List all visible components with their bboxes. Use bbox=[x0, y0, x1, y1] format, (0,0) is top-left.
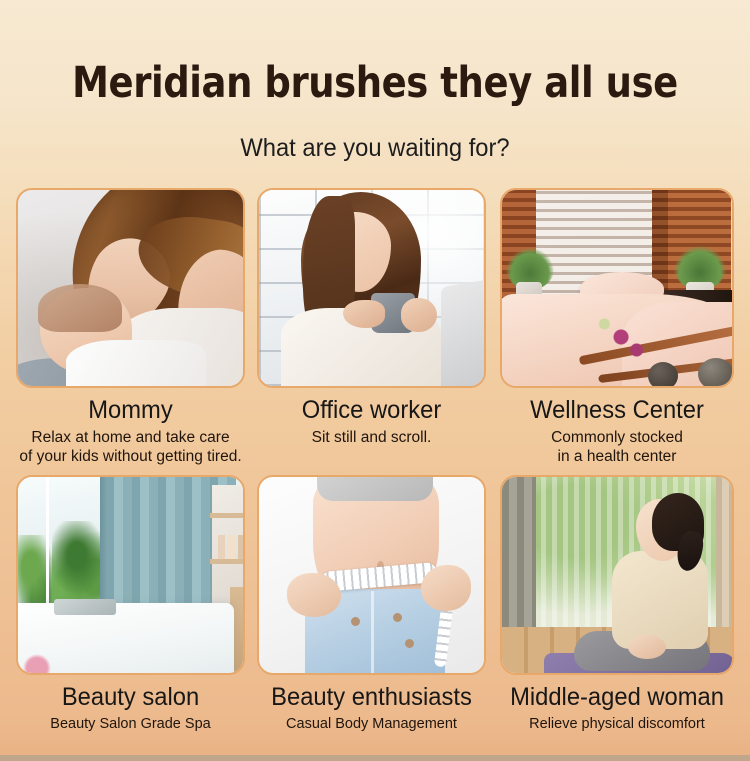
use-case-card-beauty-salon[interactable]: Beauty salon Beauty Salon Grade Spa bbox=[16, 475, 245, 734]
card-description: Sit still and scroll. bbox=[257, 428, 486, 447]
card-description-line: Commonly stocked bbox=[500, 428, 734, 447]
use-case-grid: Mommy Relax at home and take care of you… bbox=[0, 188, 750, 761]
curtain-left bbox=[502, 477, 536, 641]
photo-office-worker bbox=[259, 190, 484, 386]
photo-waist-measuring bbox=[259, 477, 484, 673]
card-description: Relieve physical discomfort bbox=[500, 715, 734, 734]
card-title: Beauty enthusiasts bbox=[263, 682, 481, 712]
card-title: Middle-aged woman bbox=[506, 682, 728, 712]
use-case-card-office-worker[interactable]: Office worker Sit still and scroll. bbox=[257, 188, 486, 447]
spa-stone bbox=[648, 362, 678, 386]
use-case-card-beauty-enthusiasts[interactable]: Beauty enthusiasts Casual Body Managemen… bbox=[257, 475, 486, 734]
spa-stone bbox=[698, 358, 732, 386]
photo-beauty-salon bbox=[18, 477, 243, 673]
jeans-button bbox=[393, 613, 402, 622]
page-subtitle: What are you waiting for? bbox=[19, 132, 732, 164]
right-hand bbox=[401, 298, 437, 332]
folded-towels bbox=[54, 599, 116, 615]
card-title: Wellness Center bbox=[506, 395, 728, 425]
card-image-frame bbox=[257, 475, 486, 675]
laptop bbox=[441, 277, 484, 386]
card-image-frame bbox=[16, 188, 245, 388]
use-case-row-2: Beauty salon Beauty Salon Grade Spa bbox=[0, 475, 750, 761]
card-description-line: Sit still and scroll. bbox=[257, 428, 486, 447]
jeans-button bbox=[351, 617, 360, 626]
card-description-line: in a health center bbox=[500, 447, 734, 466]
left-hand bbox=[343, 300, 385, 328]
promo-poster: Meridian brushes they all use What are y… bbox=[0, 0, 750, 761]
spa-bottles bbox=[218, 535, 243, 559]
baby-hair bbox=[38, 284, 122, 332]
shelf-board bbox=[210, 513, 243, 518]
left-hand bbox=[287, 573, 341, 617]
card-image-frame bbox=[500, 188, 734, 388]
jeans-button bbox=[405, 639, 414, 648]
photo-mother-and-baby bbox=[18, 190, 243, 386]
card-description-line: Relax at home and take care bbox=[16, 428, 245, 447]
card-image-frame bbox=[257, 188, 486, 388]
use-case-card-mommy[interactable]: Mommy Relax at home and take care of you… bbox=[16, 188, 245, 466]
photo-wellness-center bbox=[502, 190, 732, 386]
right-hand bbox=[421, 565, 471, 611]
card-image-frame bbox=[16, 475, 245, 675]
resting-hands bbox=[628, 635, 666, 659]
card-description: Relax at home and take care of your kids… bbox=[16, 428, 245, 466]
card-description-line: Casual Body Management bbox=[257, 715, 486, 734]
card-image-frame bbox=[500, 475, 734, 675]
page-title: Meridian brushes they all use bbox=[53, 57, 698, 109]
card-description: Beauty Salon Grade Spa bbox=[16, 715, 245, 734]
card-description-line: of your kids without getting tired. bbox=[16, 447, 245, 466]
baby-body bbox=[66, 340, 206, 386]
card-description-line: Beauty Salon Grade Spa bbox=[16, 715, 245, 734]
card-title: Office worker bbox=[263, 395, 481, 425]
use-case-card-middle-aged-woman[interactable]: Middle-aged woman Relieve physical disco… bbox=[500, 475, 734, 734]
card-description-line: Relieve physical discomfort bbox=[500, 715, 734, 734]
card-title: Mommy bbox=[22, 395, 240, 425]
shelf-board bbox=[210, 559, 243, 564]
photo-meditating-woman bbox=[502, 477, 732, 673]
jeans-seam bbox=[371, 591, 374, 673]
card-title: Beauty salon bbox=[22, 682, 240, 712]
use-case-row-1: Mommy Relax at home and take care of you… bbox=[0, 188, 750, 475]
card-description: Commonly stocked in a health center bbox=[500, 428, 734, 466]
orchid-flower bbox=[594, 314, 646, 364]
crop-top bbox=[317, 477, 433, 501]
curtain-right bbox=[716, 477, 732, 641]
use-case-card-wellness-center[interactable]: Wellness Center Commonly stocked in a he… bbox=[500, 188, 734, 466]
card-description: Casual Body Management bbox=[257, 715, 486, 734]
